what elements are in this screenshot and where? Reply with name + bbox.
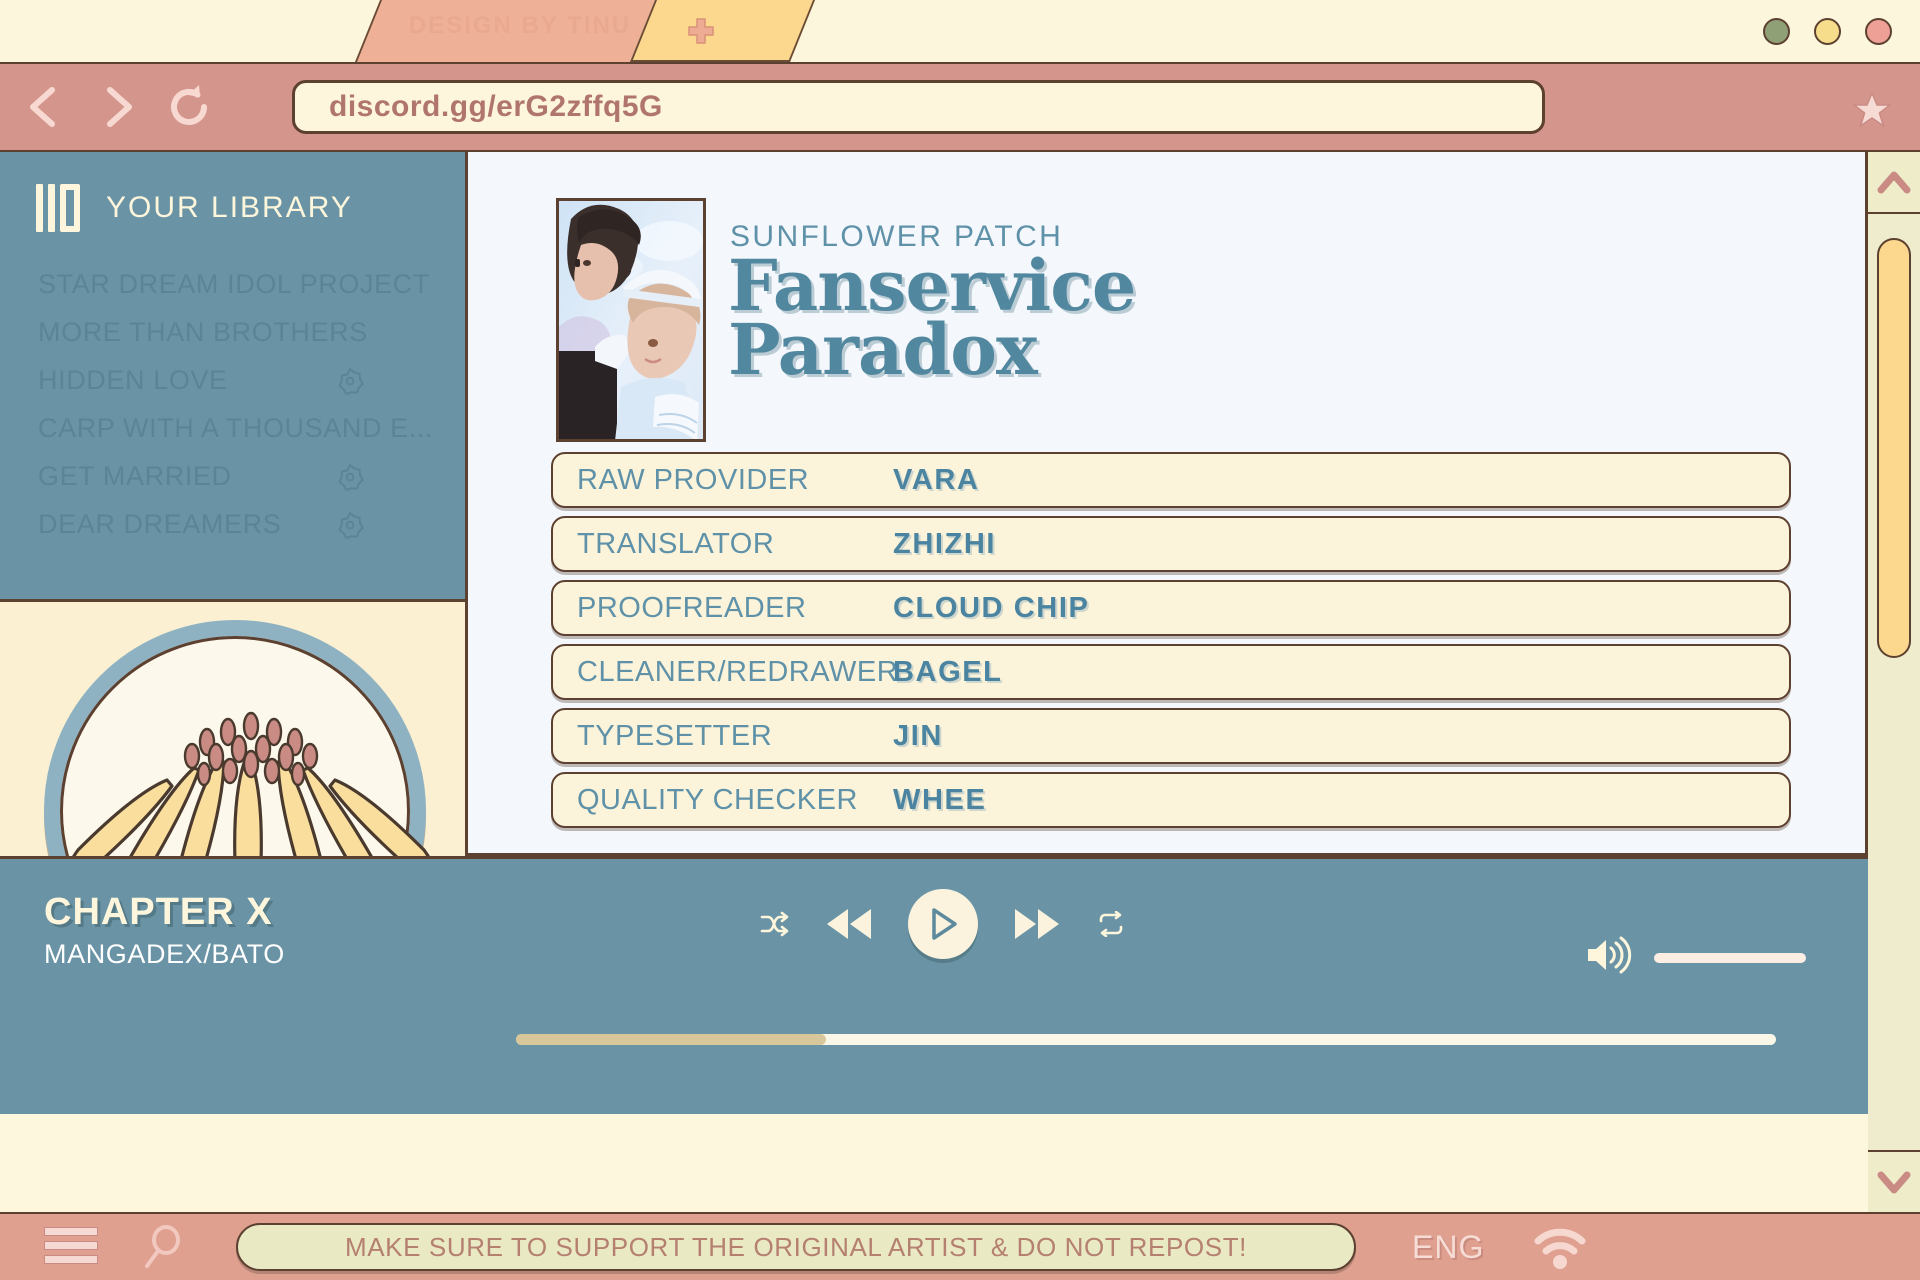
chapter-source: MANGADEX/BATO bbox=[44, 939, 285, 970]
minimize-button[interactable] bbox=[1763, 18, 1790, 45]
credit-row[interactable]: PROOFREADER CLOUD CHIP bbox=[551, 580, 1791, 636]
credit-value: CLOUD CHIP bbox=[893, 592, 1089, 625]
page-title: Fanservice Paradox bbox=[728, 254, 1135, 382]
sidebar-item-label: GET MARRIED bbox=[38, 461, 232, 492]
credit-row[interactable]: QUALITY CHECKER WHEE bbox=[551, 772, 1791, 828]
hamburger-menu-icon[interactable] bbox=[44, 1227, 98, 1267]
credit-label: TYPESETTER bbox=[553, 720, 893, 753]
volume-control bbox=[1584, 935, 1806, 980]
credit-label: CLEANER/REDRAWER bbox=[553, 656, 893, 689]
rewind-icon[interactable] bbox=[824, 906, 874, 942]
wifi-icon[interactable] bbox=[1532, 1225, 1588, 1269]
url-input[interactable]: discord.gg/erG2zffq5G bbox=[292, 80, 1545, 134]
series-detail-panel: SUNFLOWER PATCH Fanservice Paradox RAW P… bbox=[468, 152, 1868, 856]
play-button[interactable] bbox=[908, 889, 978, 959]
sidebar-item-0[interactable]: STAR DREAM IDOL PROJECT bbox=[0, 260, 465, 308]
chevron-down-icon[interactable] bbox=[1868, 1150, 1920, 1212]
browser-window: DESIGN BY TINU bbox=[0, 0, 1920, 1280]
sidebar-item-label: DEAR DREAMERS bbox=[38, 509, 281, 540]
vertical-scrollbar[interactable] bbox=[1868, 152, 1920, 1212]
volume-slider[interactable] bbox=[1654, 953, 1806, 963]
credit-row[interactable]: CLEANER/REDRAWER BAGEL bbox=[551, 644, 1791, 700]
credit-value: WHEE bbox=[893, 784, 986, 817]
sunflower-badge bbox=[44, 620, 426, 856]
language-indicator[interactable]: ENG bbox=[1412, 1229, 1484, 1266]
credit-value: VARA bbox=[893, 464, 979, 497]
close-button[interactable] bbox=[1865, 18, 1892, 45]
credit-label: QUALITY CHECKER bbox=[553, 784, 893, 817]
repeat-icon[interactable] bbox=[1096, 911, 1126, 937]
sidebar-item-label: HIDDEN LOVE bbox=[38, 365, 228, 396]
playback-controls bbox=[760, 889, 1126, 959]
search-icon[interactable] bbox=[142, 1224, 184, 1270]
scrollbar-thumb[interactable] bbox=[1877, 238, 1911, 658]
sidebar-item-5[interactable]: DEAR DREAMERS bbox=[0, 500, 465, 548]
address-bar-row: discord.gg/erG2zffq5G bbox=[0, 62, 1920, 152]
tab-watermark-label: DESIGN BY TINU bbox=[380, 12, 660, 40]
chevron-right-icon[interactable] bbox=[90, 80, 144, 134]
sidebar-item-label: STAR DREAM IDOL PROJECT bbox=[38, 269, 430, 300]
series-cover-image bbox=[556, 198, 706, 442]
credits-list: RAW PROVIDER VARA TRANSLATOR ZHIZHI PROO… bbox=[551, 452, 1791, 836]
library-list: STAR DREAM IDOL PROJECT MORE THAN BROTHE… bbox=[0, 260, 465, 548]
credit-row[interactable]: TYPESETTER JIN bbox=[551, 708, 1791, 764]
seek-slider[interactable] bbox=[516, 1034, 1776, 1045]
url-text: discord.gg/erG2zffq5G bbox=[329, 90, 663, 124]
support-notice-text: MAKE SURE TO SUPPORT THE ORIGINAL ARTIST… bbox=[345, 1232, 1247, 1263]
sidebar-item-4[interactable]: GET MARRIED bbox=[0, 452, 465, 500]
player-bar: CHAPTER X MANGADEX/BATO bbox=[0, 856, 1868, 1114]
page-body: YOUR LIBRARY STAR DREAM IDOL PROJECT MOR… bbox=[0, 152, 1920, 1212]
credit-label: TRANSLATOR bbox=[553, 528, 893, 561]
flower-icon[interactable] bbox=[335, 462, 365, 492]
sidebar-item-2[interactable]: HIDDEN LOVE bbox=[0, 356, 465, 404]
credit-row[interactable]: TRANSLATOR ZHIZHI bbox=[551, 516, 1791, 572]
chapter-title: CHAPTER X bbox=[44, 891, 273, 934]
library-header: YOUR LIBRARY bbox=[0, 152, 465, 232]
chevron-up-icon[interactable] bbox=[1868, 152, 1920, 214]
window-controls bbox=[1763, 18, 1892, 45]
star-icon[interactable] bbox=[1852, 90, 1892, 130]
credit-label: PROOFREADER bbox=[553, 592, 893, 625]
sidebar-item-1[interactable]: MORE THAN BROTHERS bbox=[0, 308, 465, 356]
sunflower-panel bbox=[0, 602, 468, 856]
fast-forward-icon[interactable] bbox=[1012, 906, 1062, 942]
flower-icon[interactable] bbox=[335, 510, 365, 540]
credit-value: JIN bbox=[893, 720, 943, 753]
new-tab-button[interactable] bbox=[630, 0, 815, 62]
seek-progress bbox=[516, 1034, 826, 1045]
library-sidebar: YOUR LIBRARY STAR DREAM IDOL PROJECT MOR… bbox=[0, 152, 468, 602]
sidebar-item-label: MORE THAN BROTHERS bbox=[38, 317, 368, 348]
chevron-left-icon[interactable] bbox=[18, 80, 72, 134]
credit-value: BAGEL bbox=[893, 656, 1003, 689]
sidebar-item-label: CARP WITH A THOUSAND E... bbox=[38, 413, 433, 444]
library-icon bbox=[36, 184, 80, 232]
plus-icon[interactable] bbox=[686, 16, 716, 46]
sidebar-item-3[interactable]: CARP WITH A THOUSAND E... bbox=[0, 404, 465, 452]
status-bar: MAKE SURE TO SUPPORT THE ORIGINAL ARTIST… bbox=[0, 1212, 1920, 1280]
support-notice-banner: MAKE SURE TO SUPPORT THE ORIGINAL ARTIST… bbox=[236, 1223, 1356, 1271]
tab-strip: DESIGN BY TINU bbox=[0, 0, 1920, 62]
credit-value: ZHIZHI bbox=[893, 528, 996, 561]
reload-icon[interactable] bbox=[162, 80, 216, 134]
volume-icon[interactable] bbox=[1584, 935, 1632, 980]
shuffle-icon[interactable] bbox=[760, 911, 790, 937]
flower-icon[interactable] bbox=[335, 366, 365, 396]
credit-label: RAW PROVIDER bbox=[553, 464, 893, 497]
credit-row[interactable]: RAW PROVIDER VARA bbox=[551, 452, 1791, 508]
title-line-2: Paradox bbox=[728, 318, 1135, 382]
maximize-button[interactable] bbox=[1814, 18, 1841, 45]
library-title: YOUR LIBRARY bbox=[106, 191, 353, 225]
